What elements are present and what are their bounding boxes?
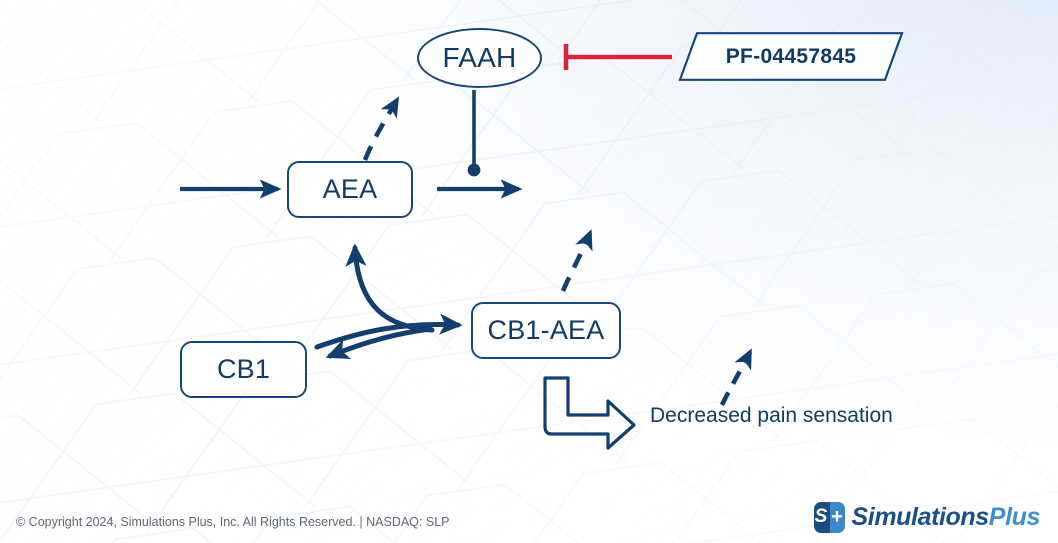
copyright-text: © Copyright 2024, Simulations Plus, Inc.… xyxy=(16,515,449,529)
node-cb1-label: CB1 xyxy=(217,354,270,385)
logo-wordmark-primary: Simulations xyxy=(852,503,989,531)
logo-mark-icon: S + xyxy=(814,502,845,533)
logo-mark-plus-icon: + xyxy=(830,502,845,533)
logo-mark-letter: S xyxy=(814,502,830,533)
node-faah[interactable]: FAAH xyxy=(417,28,542,88)
node-cb1-aea-label: CB1-AEA xyxy=(488,315,605,346)
footer: © Copyright 2024, Simulations Plus, Inc.… xyxy=(0,485,1058,543)
node-cb1[interactable]: CB1 xyxy=(180,341,307,398)
node-cb1-aea[interactable]: CB1-AEA xyxy=(471,302,621,359)
node-drug-label: PF-04457845 xyxy=(678,31,904,82)
simulations-plus-logo[interactable]: S + SimulationsPlus xyxy=(814,501,1041,533)
logo-wordmark-secondary: Plus xyxy=(989,503,1040,531)
node-aea-label: AEA xyxy=(323,174,378,205)
node-aea[interactable]: AEA xyxy=(287,161,413,218)
node-drug-pf04457845[interactable]: PF-04457845 xyxy=(678,31,904,82)
diagram-slide: FAAH AEA CB1 CB1-AEA PF-04457845 Decreas… xyxy=(0,0,1058,543)
label-decreased-pain-sensation: Decreased pain sensation xyxy=(650,404,893,428)
logo-wordmark: SimulationsPlus xyxy=(852,505,1041,530)
node-faah-label: FAAH xyxy=(443,42,517,74)
